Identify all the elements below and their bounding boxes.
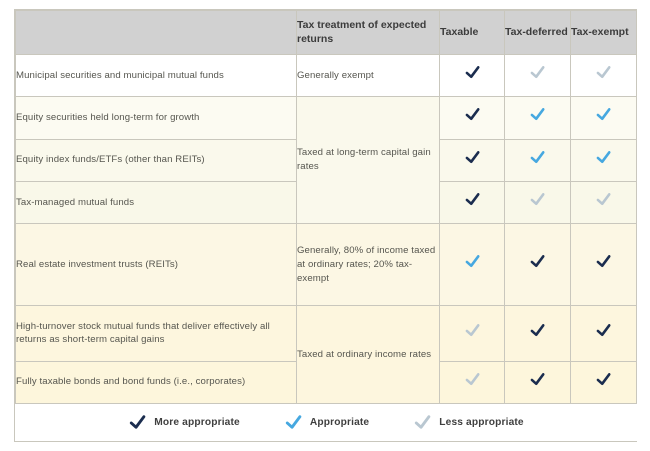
- row-description: Real estate investment trusts (REITs): [16, 224, 297, 306]
- header-taxable: Taxable: [440, 11, 505, 55]
- check-icon: [529, 372, 546, 388]
- legend-cell: More appropriate Appropriate Less approp…: [16, 404, 637, 442]
- cell-taxable: [440, 55, 505, 97]
- header-row: Tax treatment of expected returns Taxabl…: [16, 11, 637, 55]
- row-description: Equity index funds/ETFs (other than REIT…: [16, 139, 297, 181]
- cell-tax-deferred: [505, 361, 571, 403]
- tax-appropriateness-matrix-page: Tax treatment of expected returns Taxabl…: [0, 0, 650, 451]
- header-blank: [16, 11, 297, 55]
- table-row: Real estate investment trusts (REITs) Ge…: [16, 224, 637, 306]
- cell-taxable: [440, 139, 505, 181]
- cell-taxable: [440, 361, 505, 403]
- check-icon: [464, 192, 481, 208]
- table-body: Municipal securities and municipal mutua…: [16, 55, 637, 442]
- table-row: High-turnover stock mutual funds that de…: [16, 306, 637, 361]
- check-icon: [595, 107, 612, 123]
- check-icon: [529, 323, 546, 339]
- cell-tax-exempt: [571, 55, 637, 97]
- legend-label: Less appropriate: [439, 417, 524, 428]
- check-icon: [595, 323, 612, 339]
- cell-tax-deferred: [505, 224, 571, 306]
- check-icon: [413, 414, 432, 432]
- cell-tax-exempt: [571, 224, 637, 306]
- row-tax-treatment: Taxed at ordinary income rates: [297, 306, 440, 404]
- table-header: Tax treatment of expected returns Taxabl…: [16, 11, 637, 55]
- header-tax-exempt: Tax-exempt: [571, 11, 637, 55]
- cell-taxable: [440, 306, 505, 361]
- row-description: High-turnover stock mutual funds that de…: [16, 306, 297, 361]
- check-icon: [595, 192, 612, 208]
- row-description: Equity securities held long-term for gro…: [16, 97, 297, 139]
- check-icon: [464, 150, 481, 166]
- header-tax-treatment: Tax treatment of expected returns: [297, 11, 440, 55]
- check-icon: [464, 254, 481, 270]
- table-row: Equity securities held long-term for gro…: [16, 97, 637, 139]
- check-icon: [529, 107, 546, 123]
- cell-tax-deferred: [505, 181, 571, 223]
- header-tax-deferred: Tax-deferred: [505, 11, 571, 55]
- cell-tax-deferred: [505, 97, 571, 139]
- check-icon: [595, 150, 612, 166]
- check-icon: [595, 254, 612, 270]
- check-icon: [464, 107, 481, 123]
- legend-row: More appropriate Appropriate Less approp…: [16, 404, 637, 442]
- cell-tax-exempt: [571, 139, 637, 181]
- check-icon: [529, 254, 546, 270]
- row-description: Municipal securities and municipal mutua…: [16, 55, 297, 97]
- cell-tax-deferred: [505, 306, 571, 361]
- cell-tax-exempt: [571, 361, 637, 403]
- check-icon: [284, 414, 303, 432]
- row-tax-treatment: Taxed at long-term capital gain rates: [297, 97, 440, 224]
- row-description: Tax-managed mutual funds: [16, 181, 297, 223]
- cell-tax-deferred: [505, 139, 571, 181]
- check-icon: [128, 414, 147, 432]
- legend-label: Appropriate: [310, 417, 369, 428]
- row-description: Fully taxable bonds and bond funds (i.e.…: [16, 361, 297, 403]
- asset-location-table: Tax treatment of expected returns Taxabl…: [15, 10, 637, 441]
- check-icon: [529, 65, 546, 81]
- cell-taxable: [440, 97, 505, 139]
- legend-item-appropriate: Appropriate: [284, 414, 369, 432]
- cell-tax-exempt: [571, 97, 637, 139]
- check-icon: [529, 192, 546, 208]
- legend-item-less: Less appropriate: [413, 414, 524, 432]
- check-icon: [464, 323, 481, 339]
- legend: More appropriate Appropriate Less approp…: [16, 404, 637, 441]
- check-icon: [529, 150, 546, 166]
- check-icon: [595, 65, 612, 81]
- cell-tax-exempt: [571, 306, 637, 361]
- cell-tax-deferred: [505, 55, 571, 97]
- cell-taxable: [440, 181, 505, 223]
- row-tax-treatment: Generally exempt: [297, 55, 440, 97]
- check-icon: [595, 372, 612, 388]
- cell-taxable: [440, 224, 505, 306]
- cell-tax-exempt: [571, 181, 637, 223]
- legend-label: More appropriate: [154, 417, 240, 428]
- row-tax-treatment: Generally, 80% of income taxed at ordina…: [297, 224, 440, 306]
- check-icon: [464, 65, 481, 81]
- table-row: Municipal securities and municipal mutua…: [16, 55, 637, 97]
- check-icon: [464, 372, 481, 388]
- table-container: Tax treatment of expected returns Taxabl…: [14, 9, 637, 442]
- legend-item-more: More appropriate: [128, 414, 240, 432]
